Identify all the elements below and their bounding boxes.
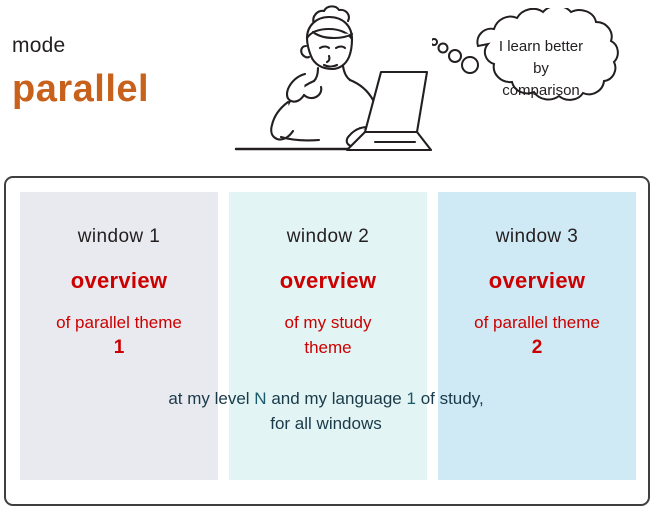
window-2-overview: overview — [229, 268, 427, 294]
window-column-2[interactable]: window 2 overview of my study theme — [229, 192, 427, 480]
footer-language-value: 1 — [406, 389, 415, 408]
thought-bubble-text: I learn better by comparison — [464, 36, 618, 102]
header-area: mode parallel — [0, 0, 656, 172]
window-1-sub-line-2: 1 — [30, 335, 208, 360]
bubble-line-2: by — [533, 60, 549, 77]
window-2-sub-line-2: theme — [304, 338, 351, 357]
footer-text-a: at my level — [168, 389, 249, 408]
window-1-title: window 1 — [20, 226, 218, 248]
bubble-line-3: comparison — [502, 82, 580, 99]
footer-text-c: of study, — [421, 389, 484, 408]
window-2-subtitle: of my study theme — [229, 310, 427, 360]
mode-value: parallel — [12, 68, 149, 111]
window-3-sub-line-2: 2 — [448, 335, 626, 360]
window-1-subtitle: of parallel theme 1 — [20, 310, 218, 360]
footer-text-b: and my language — [271, 389, 401, 408]
window-3-overview: overview — [438, 268, 636, 294]
window-1-sub-line-1: of parallel theme — [56, 313, 182, 332]
window-2-sub-line-1: of my study — [285, 313, 372, 332]
window-3-sub-line-1: of parallel theme — [474, 313, 600, 332]
windows-panel: window 1 overview of parallel theme 1 wi… — [4, 176, 650, 506]
footer-note: at my level N and my language 1 of study… — [66, 386, 586, 436]
thought-bubble: I learn better by comparison — [432, 8, 648, 128]
window-3-title: window 3 — [438, 226, 636, 248]
window-column-1[interactable]: window 1 overview of parallel theme 1 — [20, 192, 218, 480]
bubble-line-1: I learn better — [499, 38, 583, 55]
person-studying-at-laptop-illustration — [210, 2, 440, 170]
footer-line-2: for all windows — [270, 414, 382, 433]
mode-label: mode — [12, 34, 65, 58]
window-2-title: window 2 — [229, 226, 427, 248]
window-3-subtitle: of parallel theme 2 — [438, 310, 636, 360]
footer-level-value: N — [254, 389, 266, 408]
window-1-overview: overview — [20, 268, 218, 294]
windows-row: window 1 overview of parallel theme 1 wi… — [20, 192, 636, 480]
window-column-3[interactable]: window 3 overview of parallel theme 2 — [438, 192, 636, 480]
